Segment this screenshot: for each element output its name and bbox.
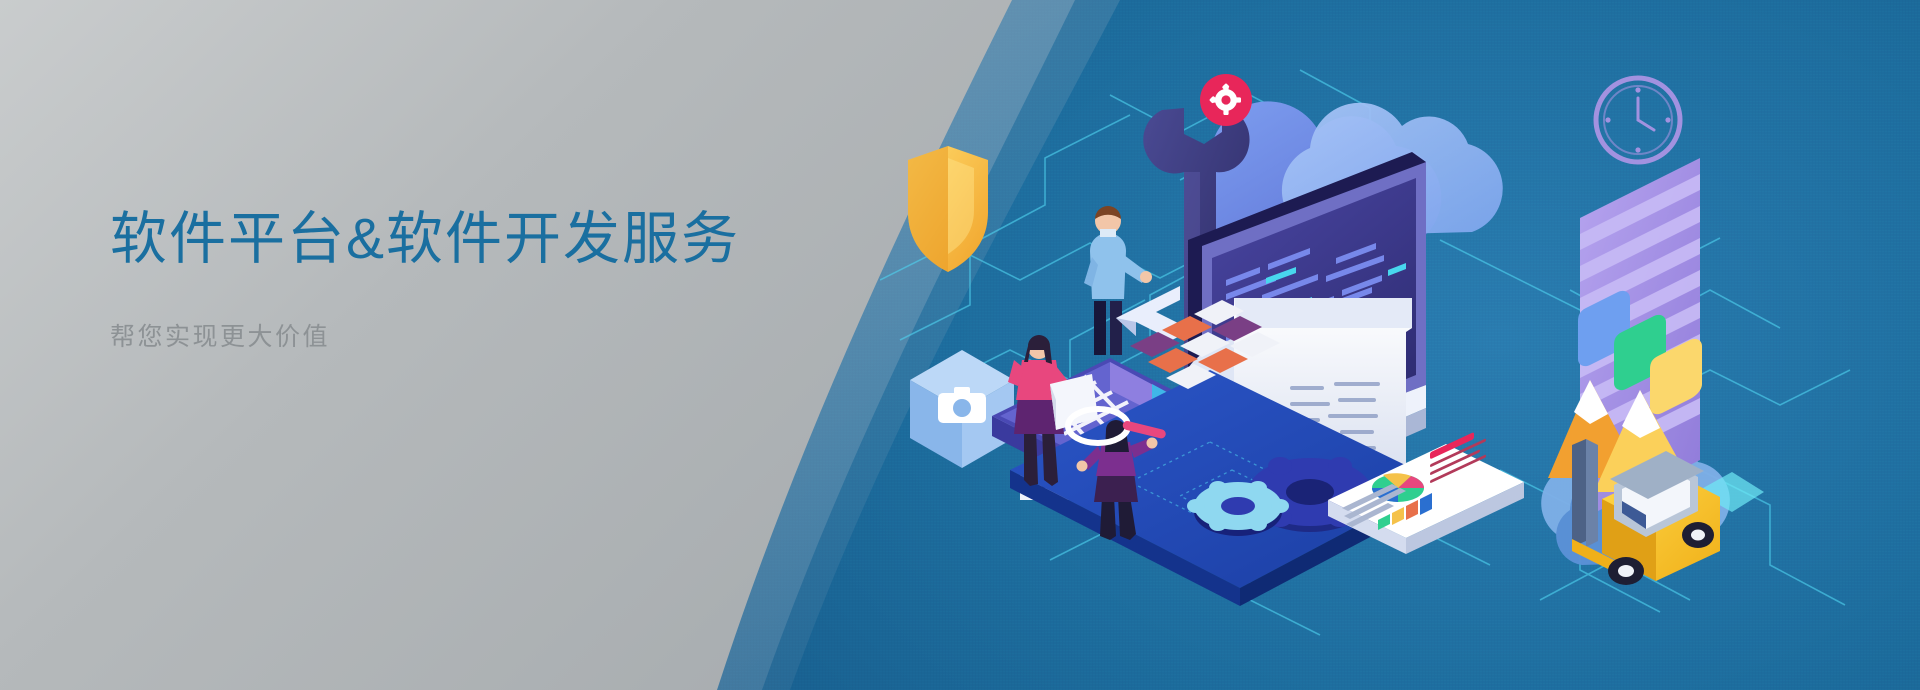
hero-copy: 软件平台&软件开发服务 帮您实现更大价值	[110, 205, 870, 353]
camera-app-card	[910, 350, 1014, 468]
wall-clock-icon	[1596, 78, 1680, 162]
security-shield-icon	[908, 146, 988, 272]
hero-banner: 软件平台&软件开发服务 帮您实现更大价值	[0, 0, 1920, 690]
illustration-isometric-scene	[880, 40, 1920, 660]
developer-person	[1084, 206, 1152, 355]
page-title: 软件平台&软件开发服务	[110, 205, 870, 275]
page-subtitle: 帮您实现更大价值	[110, 317, 870, 353]
